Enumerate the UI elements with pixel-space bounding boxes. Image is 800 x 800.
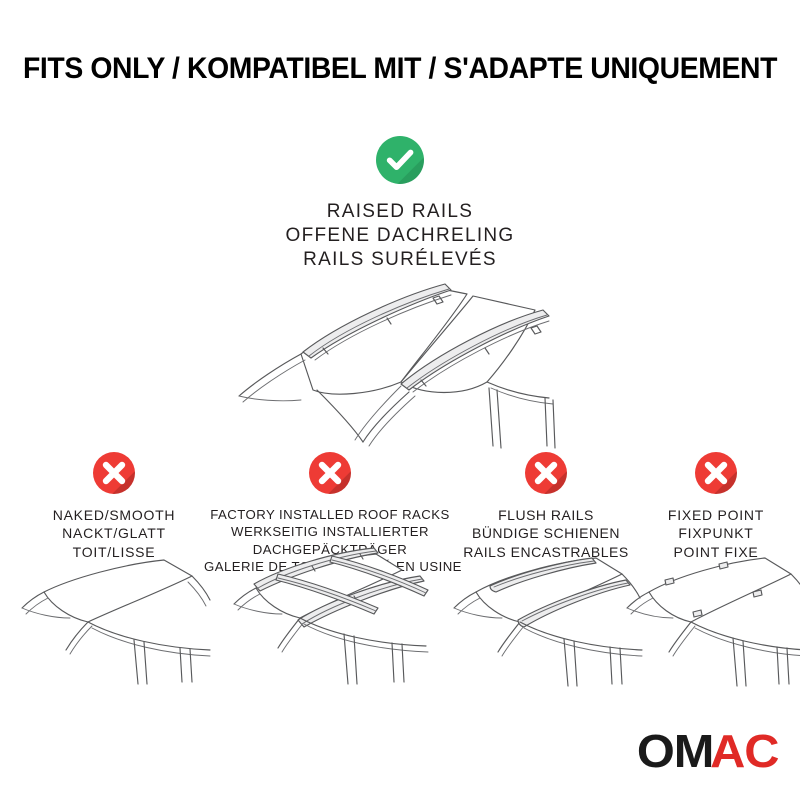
- car-roof-naked-smooth-illustration: [14, 556, 214, 686]
- approved-caption-line-3: RAILS SURÉLEVÉS: [0, 248, 800, 272]
- caption-line-2: BÜNDIGE SCHIENEN: [452, 524, 640, 542]
- excluded-item-naked-smooth: NAKED/SMOOTH NACKT/GLATT TOIT/LISSE: [18, 452, 210, 561]
- car-roof-flush-rails-illustration: [446, 552, 646, 688]
- header: FITS ONLY / KOMPATIBEL MIT / S'ADAPTE UN…: [0, 46, 800, 92]
- x-circle-icon: [525, 452, 567, 494]
- caption-line-2: FIXPUNKT: [636, 524, 796, 542]
- brand-logo-red: AC: [710, 728, 778, 774]
- x-circle-icon: [93, 452, 135, 494]
- caption-line-2: NACKT/GLATT: [18, 524, 210, 542]
- x-circle-icon: [309, 452, 351, 494]
- approved-section: RAISED RAILS OFFENE DACHRELING RAILS SUR…: [0, 136, 800, 272]
- excluded-section: NAKED/SMOOTH NACKT/GLATT TOIT/LISSE: [0, 452, 800, 712]
- car-roof-fixed-point-illustration: [621, 552, 800, 688]
- approved-caption-line-2: OFFENE DACHRELING: [0, 224, 800, 248]
- excluded-item-factory-roof-racks: FACTORY INSTALLED ROOF RACKS WERKSEITIG …: [204, 452, 456, 576]
- car-roof-factory-roof-racks-illustration: [220, 544, 440, 686]
- caption-line-2: WERKSEITIG INSTALLIERTER: [204, 523, 456, 540]
- brand-logo-dark: OM: [637, 728, 713, 774]
- x-circle-icon: [695, 452, 737, 494]
- page-title: FITS ONLY / KOMPATIBEL MIT / S'ADAPTE UN…: [23, 54, 777, 84]
- check-circle-icon: [376, 136, 424, 184]
- approved-caption-line-1: RAISED RAILS: [0, 200, 800, 224]
- caption-line-1: NAKED/SMOOTH: [18, 506, 210, 524]
- caption-line-1: FIXED POINT: [636, 506, 796, 524]
- excluded-caption: NAKED/SMOOTH NACKT/GLATT TOIT/LISSE: [18, 506, 210, 561]
- car-roof-raised-rails-illustration: [205, 278, 605, 458]
- caption-line-1: FLUSH RAILS: [452, 506, 640, 524]
- excluded-item-flush-rails: FLUSH RAILS BÜNDIGE SCHIENEN RAILS ENCAS…: [452, 452, 640, 561]
- caption-line-1: FACTORY INSTALLED ROOF RACKS: [204, 506, 456, 523]
- excluded-item-fixed-point: FIXED POINT FIXPUNKT POINT FIXE: [636, 452, 796, 561]
- infographic-sheet: FITS ONLY / KOMPATIBEL MIT / S'ADAPTE UN…: [0, 0, 800, 800]
- approved-caption: RAISED RAILS OFFENE DACHRELING RAILS SUR…: [0, 200, 800, 272]
- brand-logo: OM AC: [639, 728, 776, 774]
